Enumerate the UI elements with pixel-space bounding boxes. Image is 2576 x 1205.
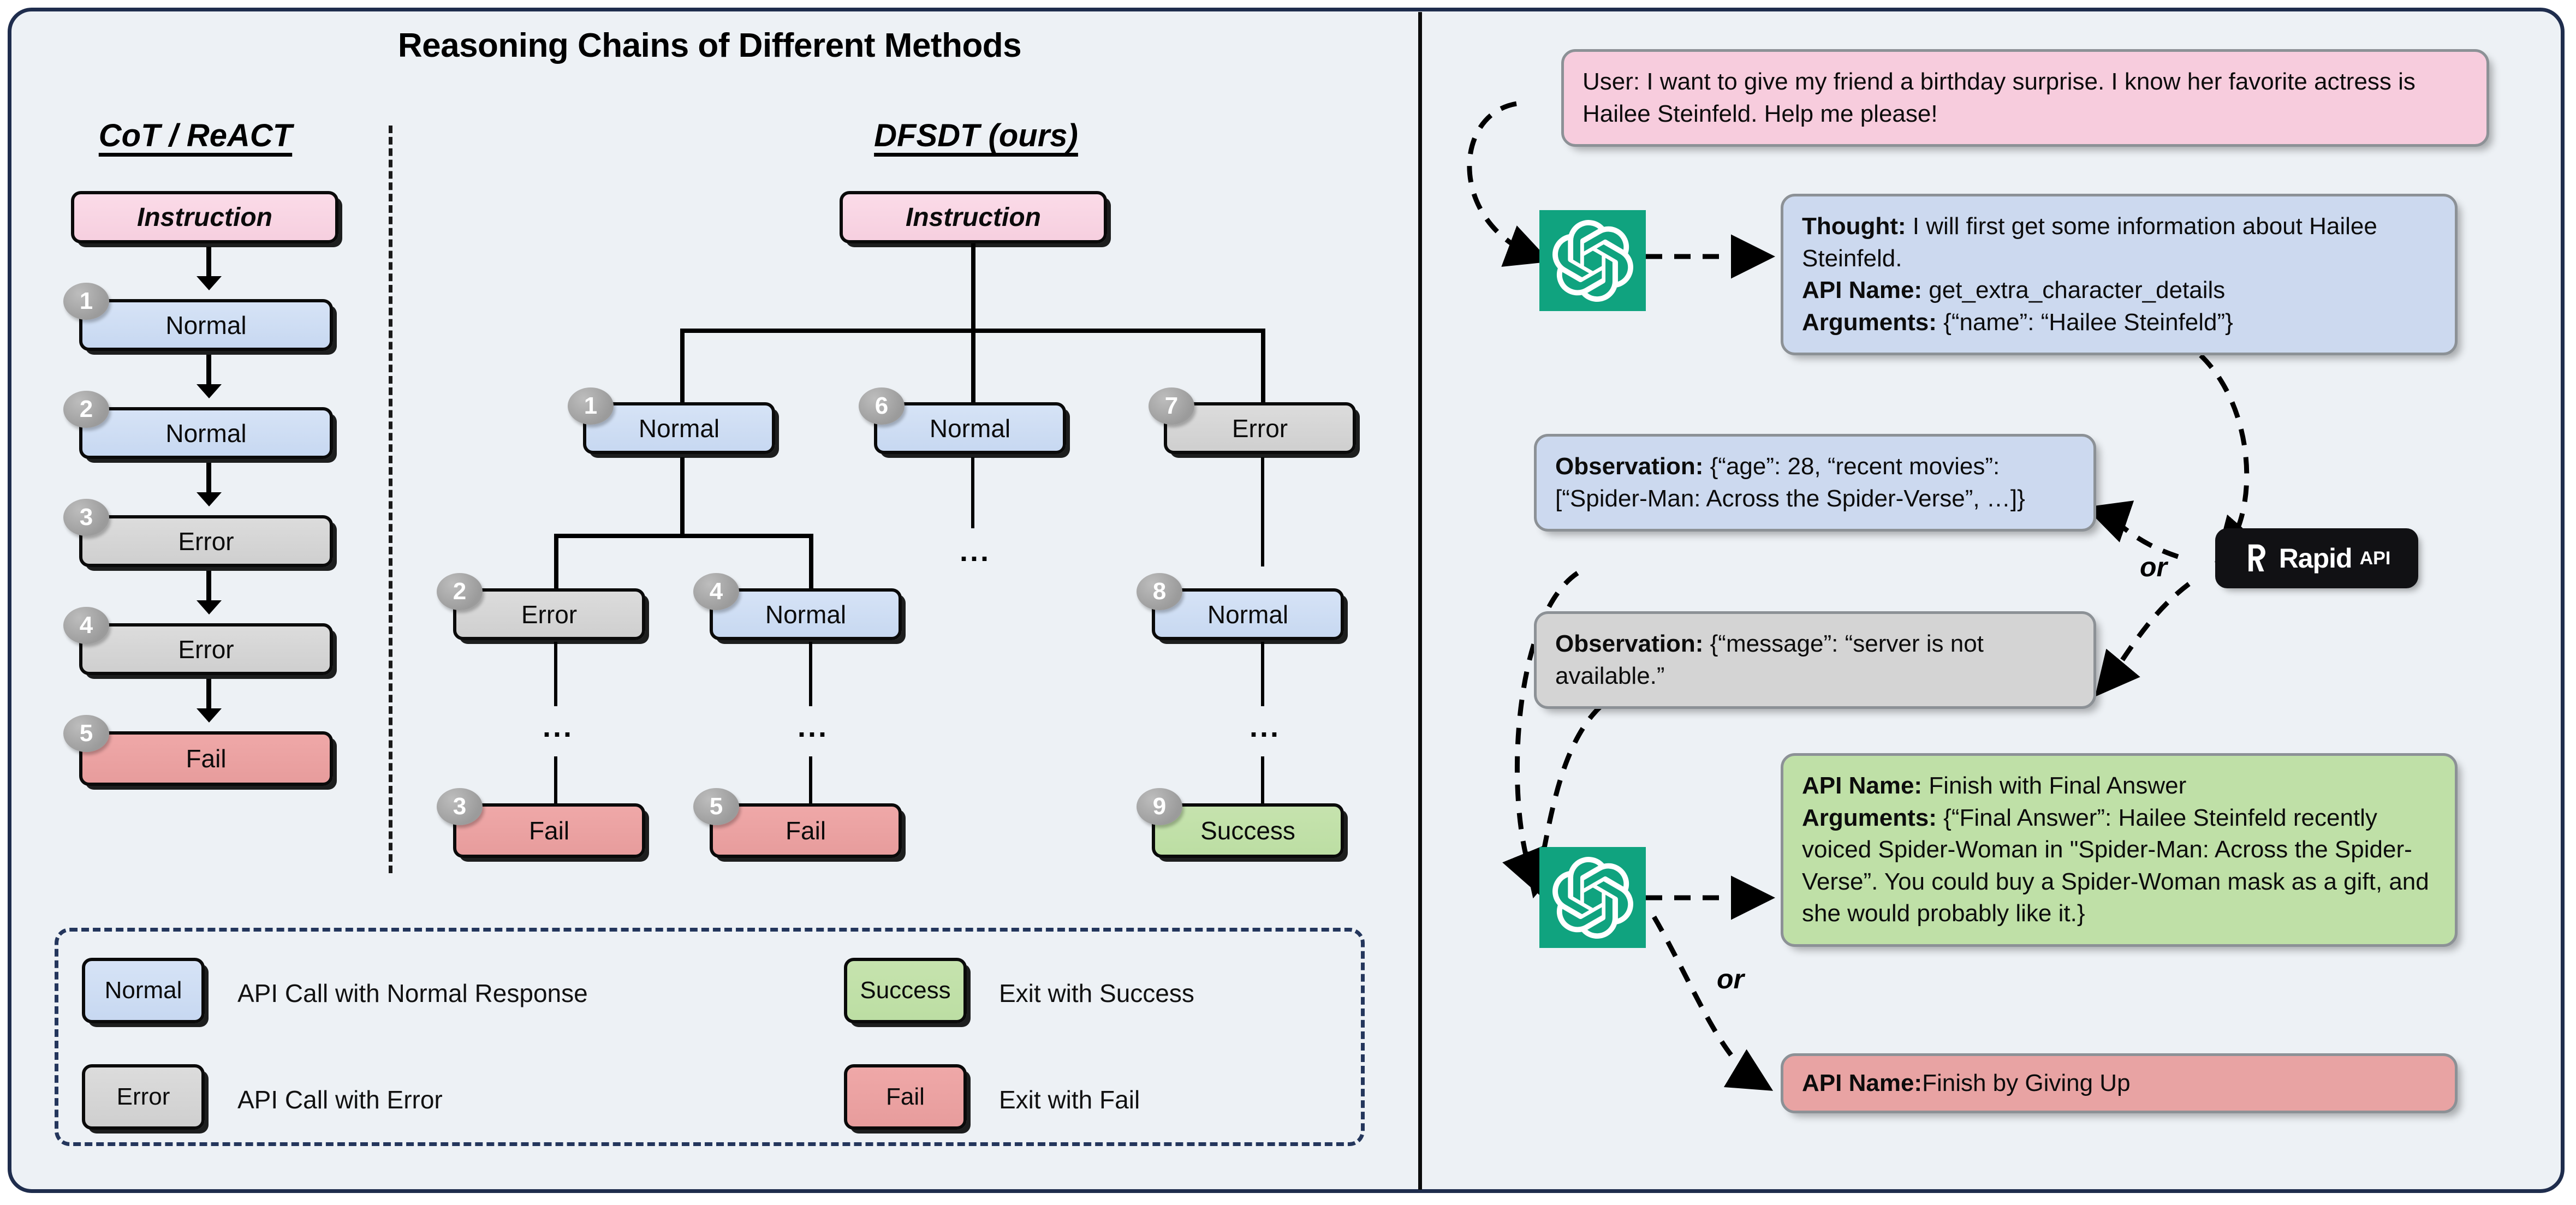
final-answer-api-value: Finish with Final Answer bbox=[1922, 772, 2186, 799]
cot-step-badge-1: 1 bbox=[63, 283, 109, 320]
legend-chip-fail: Fail bbox=[844, 1064, 967, 1130]
or-label-bottom: or bbox=[1717, 963, 1744, 995]
or-label-top: or bbox=[2140, 551, 2167, 583]
give-up-bubble: API Name: Finish by Giving Up bbox=[1781, 1053, 2458, 1113]
cot-arrow-head-4 bbox=[197, 600, 222, 615]
cot-node-2: Normal bbox=[79, 407, 333, 459]
cot-node-4: Error bbox=[79, 623, 333, 675]
legend-label-success: Exit with Success bbox=[999, 979, 1194, 1008]
cot-arrow-head-3 bbox=[197, 492, 222, 506]
final-answer-args-key: Arguments: bbox=[1802, 804, 1937, 831]
cot-step-badge-2: 2 bbox=[63, 391, 109, 428]
thought-api-value: get_extra_character_details bbox=[1922, 277, 2225, 303]
panel-divider bbox=[1418, 12, 1422, 1190]
dfsdt-branch-1-left bbox=[554, 534, 558, 588]
dfsdt-step-badge-7: 7 bbox=[1149, 387, 1194, 425]
cot-react-heading: CoT / ReACT bbox=[48, 117, 343, 154]
give-up-api-value: Finish by Giving Up bbox=[1922, 1067, 2130, 1100]
dfsdt-ellipsis-2: ... bbox=[543, 721, 574, 733]
dfsdt-step-badge-4: 4 bbox=[693, 573, 739, 610]
cot-node-3: Error bbox=[79, 515, 333, 567]
rapid-api-suffix: API bbox=[2360, 548, 2391, 569]
final-answer-api-key: API Name: bbox=[1802, 772, 1922, 799]
dfsdt-stem-2 bbox=[554, 642, 557, 706]
thought-bubble: Thought: I will first get some informati… bbox=[1781, 194, 2458, 355]
dfsdt-stem-6 bbox=[971, 457, 974, 528]
dfsdt-step-badge-9: 9 bbox=[1137, 788, 1182, 825]
dfsdt-ellipsis-6: ... bbox=[960, 546, 991, 558]
dfsdt-branch-mid bbox=[971, 329, 975, 402]
thought-key: Thought: bbox=[1802, 213, 1906, 240]
cot-arrow-3 bbox=[206, 463, 211, 494]
dfsdt-heading: DFSDT (ours) bbox=[823, 117, 1129, 154]
dfsdt-node-2: Error bbox=[453, 588, 645, 640]
dfsdt-bus-1 bbox=[554, 534, 813, 538]
dfsdt-branch-1-right bbox=[809, 534, 813, 588]
thought-args-value: {“name”: “Hailee Steinfeld”} bbox=[1937, 309, 2233, 336]
cot-arrow-4 bbox=[206, 571, 211, 602]
final-answer-api-line: API Name: Finish with Final Answer bbox=[1802, 770, 2436, 802]
page-title: Reasoning Chains of Different Methods bbox=[16, 26, 1403, 65]
dfsdt-step-badge-3: 3 bbox=[437, 788, 483, 825]
final-answer-args-line: Arguments: {“Final Answer”: Hailee Stein… bbox=[1802, 802, 2436, 930]
dfsdt-stem-7 bbox=[1261, 457, 1264, 566]
observation-error-bubble: Observation: {“message”: “server is not … bbox=[1534, 611, 2096, 709]
dfsdt-ellipsis-8: ... bbox=[1250, 721, 1281, 733]
dfsdt-stem-1 bbox=[680, 457, 685, 536]
cot-step-badge-5: 5 bbox=[63, 715, 109, 752]
dfsdt-stem-8 bbox=[1261, 642, 1264, 706]
cot-arrow-head-5 bbox=[197, 708, 222, 723]
thought-api-key: API Name: bbox=[1802, 277, 1922, 303]
legend-chip-normal: Normal bbox=[82, 958, 205, 1023]
cot-step-badge-4: 4 bbox=[63, 607, 109, 644]
cot-arrow-1 bbox=[206, 247, 211, 278]
rapid-api-mark-icon bbox=[2243, 542, 2271, 574]
legend-label-normal: API Call with Normal Response bbox=[237, 979, 588, 1008]
rapid-api-name: Rapid bbox=[2279, 542, 2352, 574]
cot-arrow-head-2 bbox=[197, 384, 222, 398]
dfsdt-instruction-node: Instruction bbox=[840, 191, 1107, 243]
cot-node-1: Normal bbox=[79, 299, 333, 351]
figure-root: Reasoning Chains of Different Methods Co… bbox=[0, 0, 2576, 1205]
method-column-divider bbox=[389, 126, 392, 873]
legend-chip-success: Success bbox=[844, 958, 967, 1023]
openai-logo-icon-2 bbox=[1539, 847, 1646, 948]
dfsdt-step-badge-1: 1 bbox=[568, 387, 614, 425]
dfsdt-branch-right bbox=[1261, 329, 1265, 402]
cot-arrow-head-1 bbox=[197, 276, 222, 290]
cot-arrow-2 bbox=[206, 355, 211, 386]
dfsdt-node-3: Fail bbox=[453, 803, 645, 858]
dfsdt-root-stem bbox=[971, 243, 975, 332]
observation-error-key: Observation: bbox=[1555, 630, 1703, 657]
rapid-api-logo: Rapid API bbox=[2215, 528, 2418, 588]
thought-line: Thought: I will first get some informati… bbox=[1802, 211, 2436, 275]
thought-args-key: Arguments: bbox=[1802, 309, 1937, 336]
legend-chip-error: Error bbox=[82, 1064, 205, 1130]
dfsdt-ellipsis-4: ... bbox=[798, 721, 829, 733]
dfsdt-step-badge-8: 8 bbox=[1137, 573, 1182, 610]
dfsdt-step-badge-5: 5 bbox=[693, 788, 739, 825]
observation-success-key: Observation: bbox=[1555, 453, 1703, 480]
legend-label-error: API Call with Error bbox=[237, 1085, 443, 1114]
user-message-bubble: User: I want to give my friend a birthda… bbox=[1561, 49, 2489, 147]
dfsdt-node-5: Fail bbox=[710, 803, 902, 858]
give-up-api-key: API Name: bbox=[1802, 1067, 1922, 1100]
dfsdt-node-4: Normal bbox=[710, 588, 902, 640]
cot-node-5: Fail bbox=[79, 731, 333, 786]
observation-success-bubble: Observation: {“age”: 28, “recent movies”… bbox=[1534, 434, 2096, 532]
dfsdt-branch-left bbox=[680, 329, 685, 402]
legend-label-fail: Exit with Fail bbox=[999, 1085, 1140, 1114]
dfsdt-step-badge-6: 6 bbox=[859, 387, 905, 425]
cot-step-badge-3: 3 bbox=[63, 499, 109, 536]
final-answer-bubble: API Name: Finish with Final Answer Argum… bbox=[1781, 753, 2458, 947]
openai-logo-icon bbox=[1539, 210, 1646, 311]
dfsdt-stem-4 bbox=[809, 642, 812, 706]
thought-api-line: API Name: get_extra_character_details bbox=[1802, 275, 2436, 307]
cot-arrow-5 bbox=[206, 679, 211, 711]
cot-instruction-node: Instruction bbox=[71, 191, 338, 243]
dfsdt-step-badge-2: 2 bbox=[437, 573, 483, 610]
thought-args-line: Arguments: {“name”: “Hailee Steinfeld”} bbox=[1802, 307, 2436, 339]
